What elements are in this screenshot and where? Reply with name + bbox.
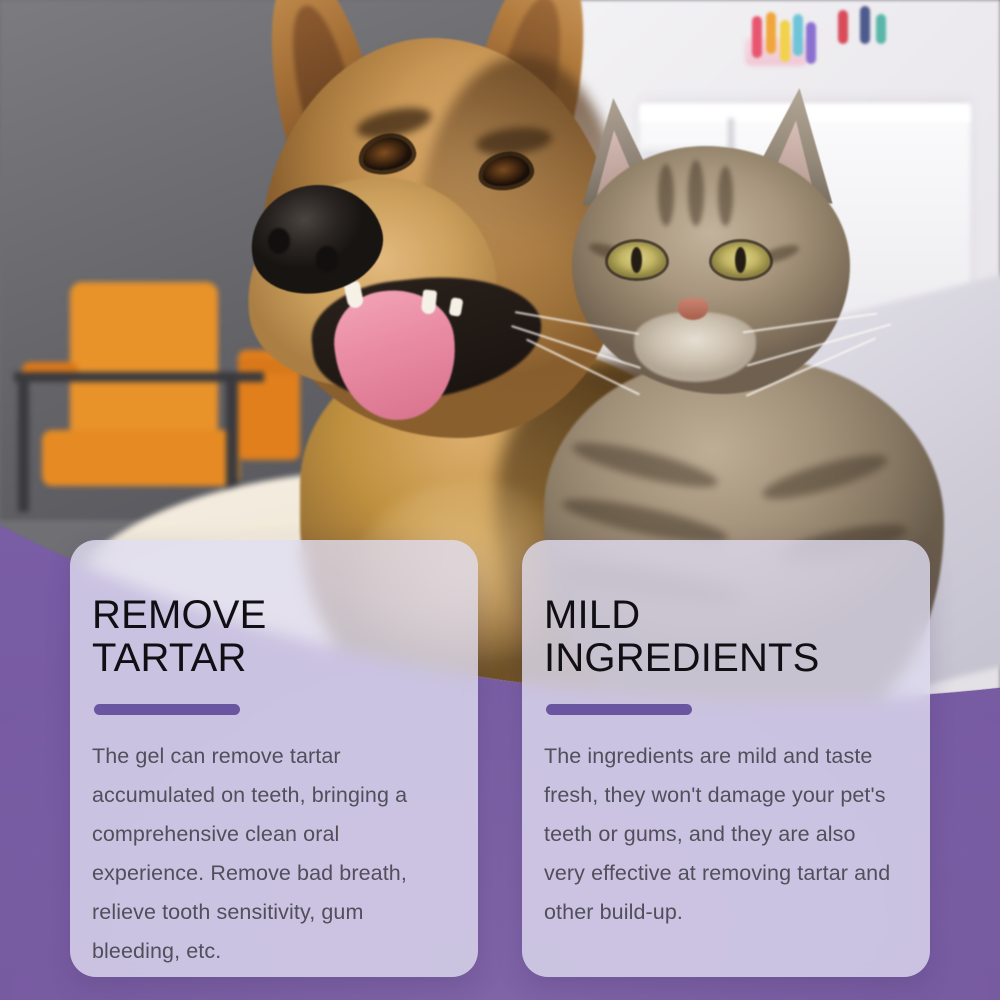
product-feature-poster: REMOVE TARTAR The gel can remove tartar … [0, 0, 1000, 1000]
card-title: REMOVE TARTAR [92, 594, 444, 680]
cat-forehead-stripe-3 [718, 166, 733, 226]
feature-card-mild-ingredients: MILD INGREDIENTS The ingredients are mil… [522, 540, 930, 977]
feature-cards: REMOVE TARTAR The gel can remove tartar … [70, 540, 930, 977]
cat-forehead-stripe-1 [658, 164, 674, 226]
cat-nose [678, 298, 708, 320]
card-body: The gel can remove tartar accumulated on… [92, 737, 444, 972]
card-body: The ingredients are mild and taste fresh… [544, 737, 896, 933]
card-accent-rule [94, 704, 240, 715]
card-title: MILD INGREDIENTS [544, 594, 896, 680]
dog-nostril-left [268, 228, 290, 254]
cat-eye-right [712, 242, 770, 278]
cat-eye-left [608, 242, 666, 278]
feature-card-remove-tartar: REMOVE TARTAR The gel can remove tartar … [70, 540, 478, 977]
card-accent-rule [546, 704, 692, 715]
dog-nostril-right [316, 246, 338, 272]
cat-forehead-stripe-2 [688, 160, 704, 226]
cat-pupil-right [735, 247, 746, 273]
cat-pupil-left [631, 247, 642, 273]
